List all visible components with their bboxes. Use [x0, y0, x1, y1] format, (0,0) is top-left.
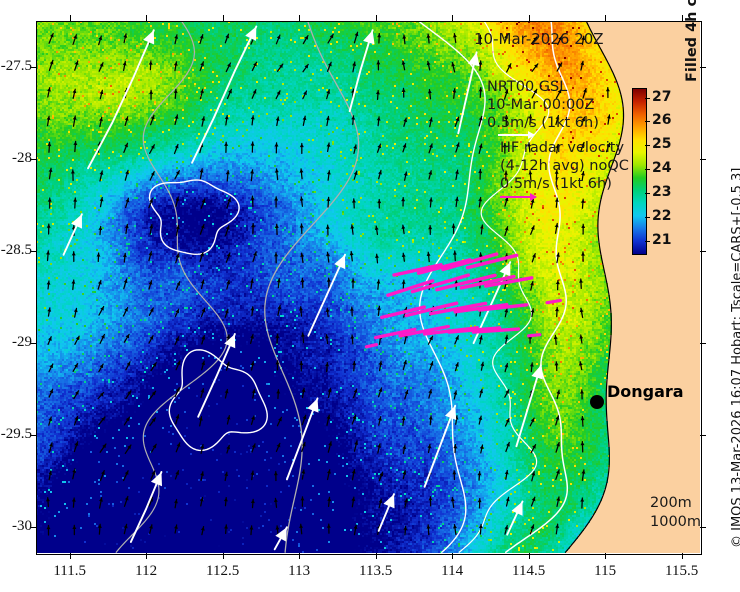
- x-axis-tick-label: 115: [575, 563, 635, 580]
- radar-legend-line-2: (4-12h avg) noQC: [500, 157, 629, 175]
- x-axis-tick-label: 115.5: [652, 563, 712, 580]
- x-axis-tick-label: 111.5: [40, 563, 100, 580]
- y-axis-tick-label: -30: [0, 518, 32, 535]
- colorbar: [632, 88, 647, 255]
- x-axis-tick-label: 112.5: [193, 563, 253, 580]
- colorbar-tick: [645, 121, 650, 122]
- y-axis-tick-label: -27.5: [0, 58, 32, 75]
- y-axis-tick-right: [700, 159, 706, 160]
- model-legend-line-3: 0.5m/s (1kt 6h): [487, 114, 599, 132]
- y-axis-tick-label: -28.5: [0, 242, 32, 259]
- dongara-marker-icon: [590, 395, 604, 409]
- y-axis-tick-right: [700, 251, 706, 252]
- colorbar-tick: [645, 169, 650, 170]
- attribution-text: © IMOS 13-Mar-2026 16:07 Hobart; Tscale=…: [730, 168, 740, 548]
- radar-velocity-legend: HF radar velocity (4-12h avg) noQC 0.5m/…: [500, 139, 629, 193]
- colorbar-tick: [645, 98, 650, 99]
- x-axis-tick: [452, 553, 453, 559]
- x-axis-tick-top: [146, 15, 147, 21]
- x-axis-tick-label: 114.5: [499, 563, 559, 580]
- model-legend-line-1: NRT00 GSL: [487, 78, 599, 96]
- x-axis-tick-top: [529, 15, 530, 21]
- colorbar-tick: [645, 241, 650, 242]
- x-axis-tick: [70, 553, 71, 559]
- radar-legend-line-3: 0.5m/s (1kt 6h): [500, 175, 629, 193]
- depth-label-1000m: 1000m: [650, 513, 701, 532]
- y-axis-tick-right: [700, 435, 706, 436]
- colorbar-tick-label: 23: [652, 184, 671, 200]
- x-axis-tick-top: [605, 15, 606, 21]
- colorbar-tick: [645, 145, 650, 146]
- x-axis-tick-top: [70, 15, 71, 21]
- y-axis-tick-label: -28: [0, 150, 32, 167]
- model-legend-line-2: 10-Mar 00:00Z: [487, 96, 599, 114]
- x-axis-tick: [299, 553, 300, 559]
- x-axis-tick: [376, 553, 377, 559]
- map-plot-area[interactable]: [36, 21, 700, 553]
- x-axis-tick-label: 113.5: [346, 563, 406, 580]
- colorbar-tick-label: 25: [652, 136, 671, 152]
- figure-timestamp-title: 10-Mar-2026 20Z: [474, 30, 604, 48]
- colorbar-gradient: [633, 89, 646, 254]
- colorbar-tick-label: 22: [652, 208, 671, 224]
- colorbar-tick: [645, 193, 650, 194]
- colorbar-tick-label: 27: [652, 89, 671, 105]
- x-axis-tick-top: [299, 15, 300, 21]
- y-axis-tick-right: [700, 67, 706, 68]
- radar-legend-line-1: HF radar velocity: [500, 139, 629, 157]
- colorbar-tick-label: 24: [652, 160, 671, 176]
- y-axis-tick-label: -29: [0, 334, 32, 351]
- y-axis-tick-right: [700, 527, 706, 528]
- y-axis-tick-right: [700, 343, 706, 344]
- x-axis-tick-top: [682, 15, 683, 21]
- radar-reference-arrow-icon: [500, 196, 536, 198]
- x-axis-tick: [529, 553, 530, 559]
- x-axis-tick: [682, 553, 683, 559]
- x-axis-tick: [146, 553, 147, 559]
- sst-map-figure: 10-Mar-2026 20Z NRT00 GSL 10-Mar 00:00Z …: [0, 0, 740, 592]
- x-axis-tick-label: 113: [269, 563, 329, 580]
- colorbar-tick-label: 21: [652, 232, 671, 248]
- model-reference-arrow-icon: [498, 134, 534, 136]
- colorbar-tick: [645, 217, 650, 218]
- x-axis-tick-top: [223, 15, 224, 21]
- x-axis-tick-label: 112: [116, 563, 176, 580]
- x-axis-tick-top: [452, 15, 453, 21]
- colorbar-title: Filled 4h comp, p50, All Sats: [684, 0, 700, 82]
- depth-contour-legend: 200m 1000m: [650, 494, 701, 532]
- model-velocity-legend: NRT00 GSL 10-Mar 00:00Z 0.5m/s (1kt 6h): [487, 78, 599, 132]
- x-axis-tick-top: [376, 15, 377, 21]
- x-axis-tick-label: 114: [422, 563, 482, 580]
- x-axis-tick: [223, 553, 224, 559]
- vector-overlay-layer: [36, 21, 700, 553]
- depth-label-200m: 200m: [650, 494, 701, 513]
- colorbar-tick-label: 26: [652, 112, 671, 128]
- y-axis-tick-label: -29.5: [0, 426, 32, 443]
- x-axis-tick: [605, 553, 606, 559]
- dongara-place-label: Dongara: [607, 382, 684, 401]
